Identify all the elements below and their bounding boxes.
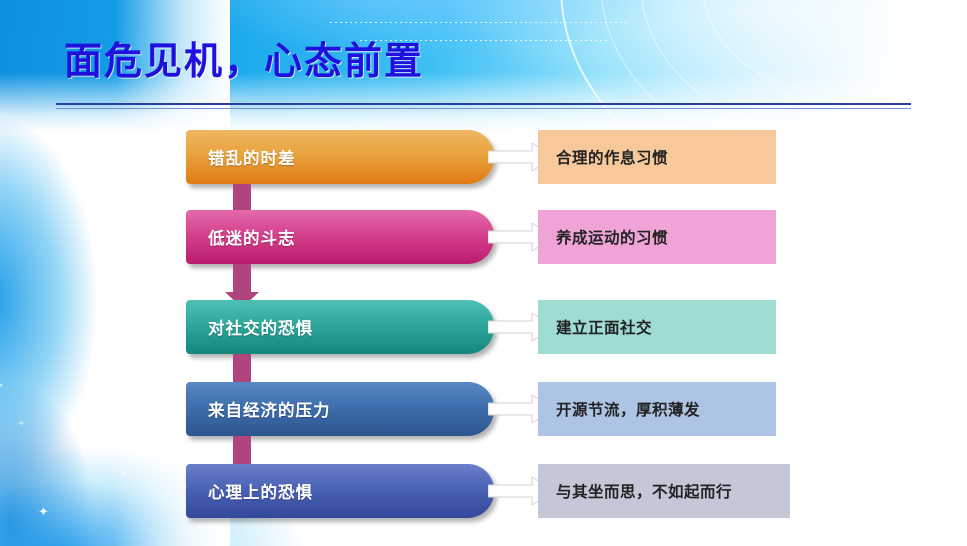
solution-box-3[interactable]: 建立正面社交 [538, 300, 776, 354]
solution-label-2: 养成运动的习惯 [538, 226, 668, 248]
process-diagram: 错乱的时差 合理的作息习惯 低迷的斗志 [0, 0, 967, 546]
solution-label-1: 合理的作息习惯 [538, 146, 668, 168]
solution-box-1[interactable]: 合理的作息习惯 [538, 130, 776, 184]
solution-box-4[interactable]: 开源节流，厚积薄发 [538, 382, 776, 436]
problem-box-4[interactable]: 来自经济的压力 [186, 382, 494, 436]
problem-box-5[interactable]: 心理上的恐惧 [186, 464, 494, 518]
problem-box-1[interactable]: 错乱的时差 [186, 130, 494, 184]
solution-label-5: 与其坐而思，不如起而行 [538, 480, 732, 502]
problem-box-2[interactable]: 低迷的斗志 [186, 210, 494, 264]
problem-label-2: 低迷的斗志 [186, 225, 296, 249]
problem-box-3[interactable]: 对社交的恐惧 [186, 300, 494, 354]
solution-box-5[interactable]: 与其坐而思，不如起而行 [538, 464, 790, 518]
solution-label-4: 开源节流，厚积薄发 [538, 398, 700, 420]
solution-label-3: 建立正面社交 [538, 316, 652, 338]
slide-canvas: ✦ ✦ ✦ 面危见机，心态前置 错乱的时差 合理的作息习惯 [0, 0, 967, 546]
problem-label-5: 心理上的恐惧 [186, 479, 313, 503]
problem-label-1: 错乱的时差 [186, 145, 296, 169]
problem-label-3: 对社交的恐惧 [186, 315, 313, 339]
problem-label-4: 来自经济的压力 [186, 397, 331, 421]
solution-box-2[interactable]: 养成运动的习惯 [538, 210, 776, 264]
